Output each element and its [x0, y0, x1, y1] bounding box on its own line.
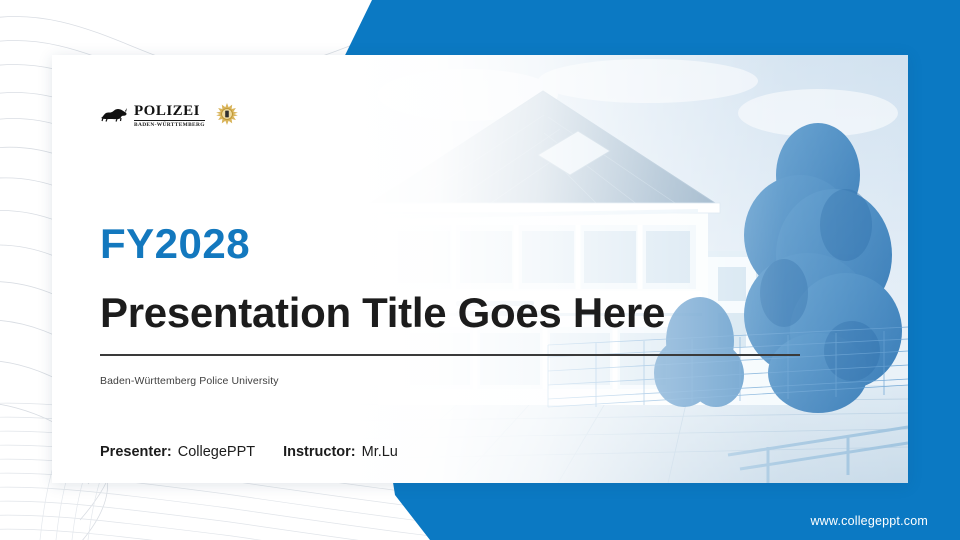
logo-wordmark: POLIZEI — [134, 104, 205, 119]
police-star-badge-icon — [216, 103, 238, 130]
title-divider — [100, 354, 800, 356]
presenter-group: Presenter: CollegePPT — [100, 444, 255, 460]
logo-wordmark-block: POLIZEI BADEN-WÜRTTEMBERG — [134, 104, 205, 128]
footer-url[interactable]: www.collegeppt.com — [810, 514, 928, 528]
lion-crest-icon — [100, 107, 128, 127]
presenter-label: Presenter: — [100, 444, 172, 460]
credits-row: Presenter: CollegePPT Instructor: Mr.Lu — [100, 444, 398, 460]
presentation-slide: POLIZEI BADEN-WÜRTTEMBERG FY2028 — [0, 0, 960, 540]
instructor-value: Mr.Lu — [362, 444, 398, 460]
instructor-label: Instructor: — [283, 444, 356, 460]
subtitle: Baden-Württemberg Police University — [100, 375, 279, 387]
logo-state-label: BADEN-WÜRTTEMBERG — [134, 123, 205, 128]
slide-card: POLIZEI BADEN-WÜRTTEMBERG FY2028 — [52, 55, 908, 483]
page-title: Presentation Title Goes Here — [100, 292, 665, 334]
fiscal-year-heading: FY2028 — [100, 223, 250, 265]
presenter-value: CollegePPT — [178, 444, 255, 460]
police-logo: POLIZEI BADEN-WÜRTTEMBERG — [100, 103, 238, 130]
instructor-group: Instructor: Mr.Lu — [283, 444, 398, 460]
